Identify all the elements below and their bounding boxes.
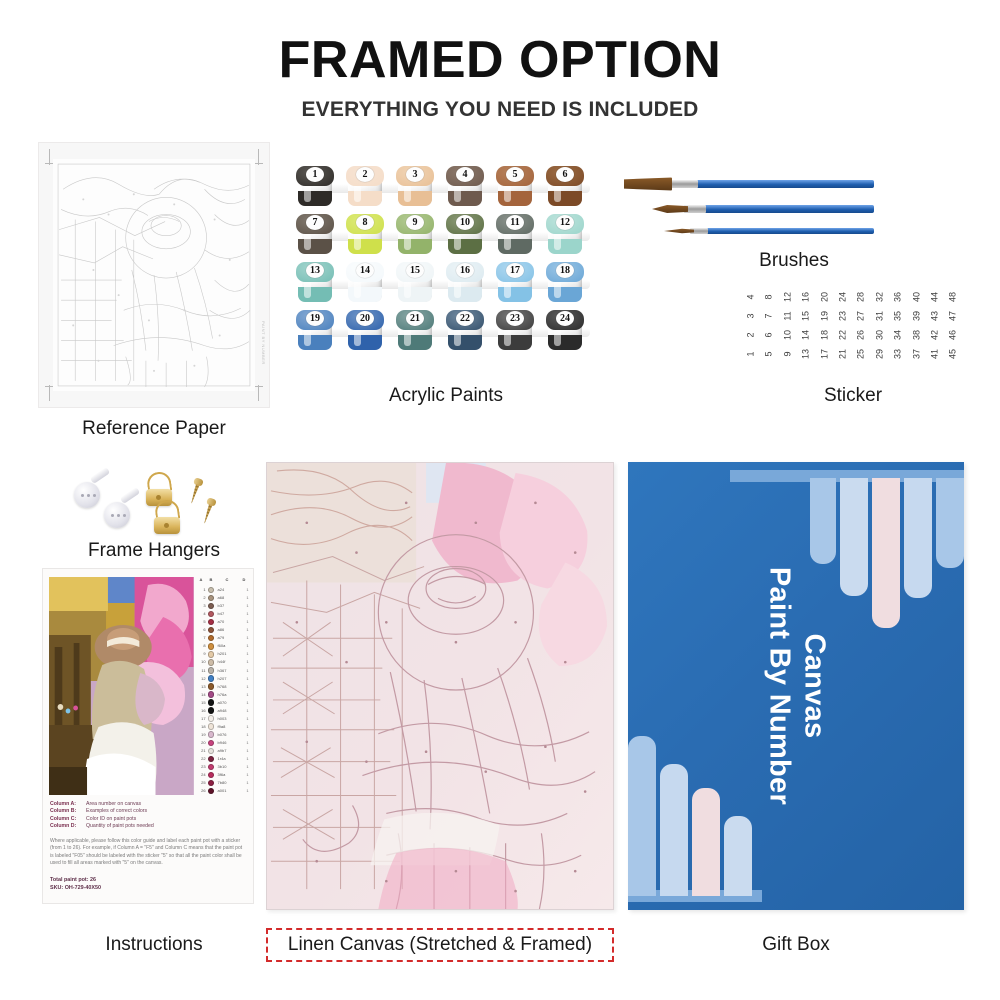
pot-highlight xyxy=(454,280,461,298)
sticker-number: 5 xyxy=(760,346,778,363)
sticker-number: 31 xyxy=(870,308,888,325)
legend-color-code: a001 xyxy=(218,788,227,793)
sticker-number: 39 xyxy=(907,308,925,325)
sticker-number: 36 xyxy=(889,289,907,306)
sticker-number: 3 xyxy=(742,308,760,325)
sticker-number: 6 xyxy=(760,327,778,344)
legend-color-code: a68 xyxy=(218,595,225,600)
legend-quantity: 1 xyxy=(246,700,248,705)
legend-area-number: 12 xyxy=(199,676,206,681)
pot-highlight xyxy=(504,184,511,202)
paint-pot-1: 1 xyxy=(296,166,334,208)
caption-linen-canvas: Linen Canvas (Stretched & Framed) xyxy=(266,928,614,962)
legend-quantity: 1 xyxy=(246,619,248,624)
pot-highlight xyxy=(454,184,461,202)
legend-color-code: b946 xyxy=(218,740,227,745)
paint-pot-number: 7 xyxy=(306,215,324,230)
legend-color-swatch xyxy=(208,691,215,698)
legend-color-swatch xyxy=(208,764,215,771)
legend-color-code: h44f xyxy=(218,659,226,664)
legend-area-number: 21 xyxy=(199,748,206,753)
sticker-number: 38 xyxy=(907,327,925,344)
paint-pot-11: 11 xyxy=(496,214,534,256)
sticker-number: 17 xyxy=(815,346,833,363)
legend-quantity: 1 xyxy=(246,643,248,648)
legend-color-swatch xyxy=(208,699,215,706)
legend-area-number: 2 xyxy=(199,595,206,600)
legend-row: 16a9481 xyxy=(198,707,250,715)
paint-pot-17: 17 xyxy=(496,262,534,304)
sticker-number: 29 xyxy=(870,346,888,363)
legend-color-code: h207 xyxy=(218,676,227,681)
sticker-column: 41424344 xyxy=(926,288,943,368)
sticker-number: 35 xyxy=(889,308,907,325)
paint-pot-number: 9 xyxy=(406,215,424,230)
legend-area-number: 15 xyxy=(199,700,206,705)
legend-row: 2a681 xyxy=(198,594,250,602)
paint-pot-number: 3 xyxy=(406,167,424,182)
instructions-preview-art xyxy=(49,577,194,795)
pot-highlight xyxy=(354,280,361,298)
legend-area-number: 16 xyxy=(199,708,206,713)
legend-area-number: 6 xyxy=(199,627,206,632)
sticker-number: 30 xyxy=(870,327,888,344)
legend-color-code: h768 xyxy=(218,684,227,689)
legend-row: 14h76a1 xyxy=(198,691,250,699)
caption-acrylic-paints: Acrylic Paints xyxy=(296,385,596,407)
paint-pot-number: 4 xyxy=(456,167,474,182)
legend-quantity: 1 xyxy=(246,684,248,689)
pot-highlight xyxy=(554,328,561,346)
sticker-column: 25262728 xyxy=(852,288,869,368)
pot-highlight xyxy=(354,232,361,250)
sticker-number: 32 xyxy=(870,289,888,306)
legend-header-b: B xyxy=(210,577,213,582)
sticker-number: 27 xyxy=(852,308,870,325)
sticker-column: 45464748 xyxy=(944,288,961,368)
legend-color-swatch xyxy=(208,788,215,795)
legend-row: 18f9a81 xyxy=(198,723,250,731)
pot-highlight xyxy=(354,184,361,202)
legend-color-code: 3f6a xyxy=(218,772,226,777)
sku-value: OH-729-40X50 xyxy=(65,885,101,891)
paint-pot-number: 21 xyxy=(406,311,424,326)
legend-area-number: 22 xyxy=(199,756,206,761)
legend-row: 5a701 xyxy=(198,618,250,626)
legend-color-swatch xyxy=(208,748,215,755)
d-ring-hanger-2 xyxy=(152,500,182,534)
legend-color-code: f60a xyxy=(218,643,226,648)
legend-color-code: a9b7 xyxy=(218,748,227,753)
legend-color-swatch xyxy=(208,587,215,594)
paint-pot-number: 19 xyxy=(306,311,324,326)
paint-pot-number: 6 xyxy=(556,167,574,182)
paint-pot-16: 16 xyxy=(446,262,484,304)
sticker-number: 15 xyxy=(797,308,815,325)
legend-quantity: 1 xyxy=(246,692,248,697)
sticker-number: 22 xyxy=(834,327,852,344)
pot-highlight xyxy=(354,328,361,346)
legend-area-number: 9 xyxy=(199,651,206,656)
legend-row: 26a0011 xyxy=(198,787,250,795)
pot-highlight xyxy=(304,232,311,250)
legend-quantity: 1 xyxy=(246,676,248,681)
legend-color-swatch xyxy=(208,627,215,634)
column-description: Examples of correct colors xyxy=(86,808,147,814)
legend-color-swatch xyxy=(208,635,215,642)
sticker-column: 1234 xyxy=(742,288,759,368)
reference-paper-sidenote: PAINT BY NUMBER xyxy=(261,321,266,365)
legend-color-code: h201 xyxy=(218,651,227,656)
legend-color-code: b076 xyxy=(218,732,227,737)
sticker-number: 4 xyxy=(742,289,760,306)
legend-quantity: 1 xyxy=(246,668,248,673)
legend-row: 243f6a1 xyxy=(198,771,250,779)
pot-highlight xyxy=(404,232,411,250)
paint-pot-8: 8 xyxy=(346,214,384,256)
legend-area-number: 13 xyxy=(199,684,206,689)
caption-gift-box: Gift Box xyxy=(628,934,964,956)
pot-highlight xyxy=(504,232,511,250)
column-definition: Column A:Area number on canvas xyxy=(50,801,246,808)
legend-row: 12h2071 xyxy=(198,675,250,683)
pot-highlight xyxy=(304,328,311,346)
instructions-sheet-image: A B C D 1a2412a6813b3714b4715a7016a8617a… xyxy=(42,568,254,904)
caption-sticker: Sticker xyxy=(742,385,964,407)
legend-color-code: h003 xyxy=(218,716,227,721)
paint-pot-10: 10 xyxy=(446,214,484,256)
brush-flat xyxy=(624,180,874,188)
reference-line-art xyxy=(53,159,255,391)
caption-instructions: Instructions xyxy=(38,934,270,956)
column-key: Column B: xyxy=(50,808,86,815)
pot-highlight xyxy=(304,280,311,298)
sticker-column: 5678 xyxy=(760,288,777,368)
legend-area-number: 24 xyxy=(199,772,206,777)
paint-pot-number: 8 xyxy=(356,215,374,230)
paint-pot-24: 24 xyxy=(546,310,584,352)
sticker-number: 18 xyxy=(815,327,833,344)
paint-pot-number: 23 xyxy=(506,311,524,326)
sticker-number: 10 xyxy=(778,327,796,344)
total-paint-pot-value: 26 xyxy=(90,877,96,883)
sticker-number: 7 xyxy=(760,308,778,325)
sticker-number: 48 xyxy=(944,289,962,306)
paint-pot-number: 1 xyxy=(306,167,324,182)
paint-pot-row: 789101112 xyxy=(296,214,596,258)
paint-pot-18: 18 xyxy=(546,262,584,304)
sticker-number: 44 xyxy=(926,289,944,306)
acrylic-paints-image: 123456789101112131415161718192021222324 xyxy=(296,166,596,358)
pot-highlight xyxy=(454,328,461,346)
pot-highlight xyxy=(554,184,561,202)
paint-pot-row: 192021222324 xyxy=(296,310,596,354)
legend-quantity: 1 xyxy=(246,627,248,632)
legend-quantity: 1 xyxy=(246,635,248,640)
paint-pot-5: 5 xyxy=(496,166,534,208)
legend-color-swatch xyxy=(208,675,215,682)
sticker-number: 8 xyxy=(760,289,778,306)
pot-highlight xyxy=(404,280,411,298)
column-description: Quantity of paint pots needed xyxy=(86,823,154,829)
sticker-column: 17181920 xyxy=(816,288,833,368)
legend-color-code: 1r4a xyxy=(218,756,226,761)
paint-pot-20: 20 xyxy=(346,310,384,352)
paint-pot-6: 6 xyxy=(546,166,584,208)
pot-highlight xyxy=(304,184,311,202)
paint-pot-row: 131415161718 xyxy=(296,262,596,306)
column-key: Column D: xyxy=(50,823,86,830)
legend-area-number: 14 xyxy=(199,692,206,697)
pot-highlight xyxy=(454,232,461,250)
page-subtitle: EVERYTHING YOU NEED IS INCLUDED xyxy=(0,98,1000,122)
column-description: Color ID on paint pots xyxy=(86,816,136,822)
legend-color-swatch xyxy=(208,619,215,626)
sticker-number: 11 xyxy=(778,308,796,325)
caption-frame-hangers: Frame Hangers xyxy=(38,540,270,562)
legend-quantity: 1 xyxy=(246,740,248,745)
legend-row: 3b371 xyxy=(198,602,250,610)
legend-color-swatch xyxy=(208,611,215,618)
sticker-number: 19 xyxy=(815,308,833,325)
paint-pot-number: 14 xyxy=(356,263,374,278)
screw-1 xyxy=(187,477,204,505)
legend-area-number: 19 xyxy=(199,732,206,737)
sticker-number: 40 xyxy=(907,289,925,306)
instructions-text-block: Column A:Area number on canvasColumn B:E… xyxy=(50,801,246,892)
legend-quantity: 1 xyxy=(246,732,248,737)
legend-color-swatch xyxy=(208,731,215,738)
paint-pot-7: 7 xyxy=(296,214,334,256)
instructions-note: Where applicable, please follow this col… xyxy=(50,838,246,868)
reference-paper-image: PAINT BY NUMBER xyxy=(38,142,270,408)
column-key: Column C: xyxy=(50,816,86,823)
product-infographic: FRAMED OPTION EVERYTHING YOU NEED IS INC… xyxy=(0,0,1000,1000)
sticker-number: 13 xyxy=(797,346,815,363)
column-definition: Column B:Examples of correct colors xyxy=(50,808,246,815)
legend-area-number: 23 xyxy=(199,764,206,769)
pot-highlight xyxy=(554,232,561,250)
paint-pot-19: 19 xyxy=(296,310,334,352)
paint-pot-number: 5 xyxy=(506,167,524,182)
legend-color-swatch xyxy=(208,651,215,658)
legend-color-code: a86 xyxy=(218,627,225,632)
paint-pot-22: 22 xyxy=(446,310,484,352)
paint-pot-4: 4 xyxy=(446,166,484,208)
paint-pot-15: 15 xyxy=(396,262,434,304)
legend-header-row: A B C D xyxy=(198,577,250,585)
legend-color-code: b37 xyxy=(218,603,225,608)
page-title: FRAMED OPTION xyxy=(0,30,1000,90)
legend-color-swatch xyxy=(208,643,215,650)
legend-area-number: 17 xyxy=(199,716,206,721)
paint-pot-number: 17 xyxy=(506,263,524,278)
legend-quantity: 1 xyxy=(246,708,248,713)
paint-pot-number: 18 xyxy=(556,263,574,278)
sticker-number: 21 xyxy=(834,346,852,363)
pot-highlight xyxy=(404,328,411,346)
column-definition: Column C:Color ID on paint pots xyxy=(50,816,246,823)
sku-label: SKU: xyxy=(50,885,63,891)
legend-color-swatch xyxy=(208,756,215,763)
column-key: Column A: xyxy=(50,801,86,808)
legend-color-swatch xyxy=(208,740,215,747)
legend-row: 6a861 xyxy=(198,626,250,634)
legend-row: 19b0761 xyxy=(198,731,250,739)
legend-color-swatch xyxy=(208,683,215,690)
color-legend-table: A B C D 1a2412a6813b3714b4715a7016a8617a… xyxy=(198,577,247,795)
legend-row: 17h0031 xyxy=(198,715,250,723)
sticker-number: 37 xyxy=(907,346,925,363)
legend-color-swatch xyxy=(208,772,215,779)
sticker-number: 42 xyxy=(926,327,944,344)
sticker-number: 34 xyxy=(889,327,907,344)
legend-color-swatch xyxy=(208,715,215,722)
legend-row: 8f60a1 xyxy=(198,642,250,650)
legend-color-code: 7b80 xyxy=(218,780,227,785)
legend-header-a: A xyxy=(200,577,203,582)
legend-color-code: 3b10 xyxy=(218,764,227,769)
legend-row: 13h7681 xyxy=(198,683,250,691)
sticker-number: 25 xyxy=(852,346,870,363)
legend-color-code: h367 xyxy=(218,668,227,673)
legend-area-number: 25 xyxy=(199,780,206,785)
legend-quantity: 1 xyxy=(246,611,248,616)
legend-area-number: 7 xyxy=(199,635,206,640)
paint-pot-23: 23 xyxy=(496,310,534,352)
legend-row: 15a0701 xyxy=(198,699,250,707)
legend-color-code: b47 xyxy=(218,611,225,616)
linen-canvas-image xyxy=(266,462,614,910)
paint-pot-number: 15 xyxy=(406,263,424,278)
paint-pot-9: 9 xyxy=(396,214,434,256)
legend-row: 7a791 xyxy=(198,634,250,642)
gift-box-label: Canvas Paint By Number xyxy=(761,567,832,805)
legend-color-code: a948 xyxy=(218,708,227,713)
legend-quantity: 1 xyxy=(246,748,248,753)
paint-pot-21: 21 xyxy=(396,310,434,352)
legend-quantity: 1 xyxy=(246,756,248,761)
sticker-column: 29303132 xyxy=(871,288,888,368)
legend-color-code: h76a xyxy=(218,692,227,697)
legend-row: 20b9461 xyxy=(198,739,250,747)
legend-row: 4b471 xyxy=(198,610,250,618)
column-description: Area number on canvas xyxy=(86,801,141,807)
sticker-number: 46 xyxy=(944,327,962,344)
gift-box-line-1: Canvas xyxy=(796,567,831,805)
legend-row: 11h3671 xyxy=(198,667,250,675)
legend-quantity: 1 xyxy=(246,587,248,592)
sticker-sheet-image: 1234567891011121314151617181920212223242… xyxy=(742,288,964,368)
legend-area-number: 4 xyxy=(199,611,206,616)
legend-color-swatch xyxy=(208,723,215,730)
legend-area-number: 3 xyxy=(199,603,206,608)
legend-color-code: a70 xyxy=(218,619,225,624)
gift-box-image: Canvas Paint By Number xyxy=(628,462,964,910)
paint-pot-number: 20 xyxy=(356,311,374,326)
sticker-column: 21222324 xyxy=(834,288,851,368)
legend-quantity: 1 xyxy=(246,659,248,664)
legend-color-swatch xyxy=(208,603,215,610)
legend-quantity: 1 xyxy=(246,772,248,777)
legend-quantity: 1 xyxy=(246,595,248,600)
legend-area-number: 10 xyxy=(199,659,206,664)
sticker-number: 16 xyxy=(797,289,815,306)
sticker-number: 45 xyxy=(944,346,962,363)
brushes-image xyxy=(624,172,874,262)
sticker-column: 33343536 xyxy=(889,288,906,368)
screw-2 xyxy=(200,497,217,525)
paint-pot-14: 14 xyxy=(346,262,384,304)
column-definition: Column D:Quantity of paint pots needed xyxy=(50,823,246,830)
sticker-number: 23 xyxy=(834,308,852,325)
legend-row: 9h2011 xyxy=(198,650,250,658)
column-definitions: Column A:Area number on canvasColumn B:E… xyxy=(50,801,246,831)
sticker-number: 20 xyxy=(815,289,833,306)
paint-pot-number: 16 xyxy=(456,263,474,278)
sticker-number: 33 xyxy=(889,346,907,363)
sticker-column: 13141516 xyxy=(797,288,814,368)
legend-area-number: 26 xyxy=(199,788,206,793)
legend-area-number: 11 xyxy=(199,668,206,673)
legend-row: 221r4a1 xyxy=(198,755,250,763)
legend-color-swatch xyxy=(208,667,215,674)
sticker-number: 12 xyxy=(778,289,796,306)
sticker-number: 26 xyxy=(852,327,870,344)
instructions-totals: Total paint pot: 26 SKU: OH-729-40X50 xyxy=(50,876,246,892)
legend-header-c: C xyxy=(226,577,229,582)
paint-pot-number: 13 xyxy=(306,263,324,278)
legend-color-swatch xyxy=(208,659,215,666)
legend-row: 21a9b71 xyxy=(198,747,250,755)
legend-quantity: 1 xyxy=(246,780,248,785)
legend-area-number: 1 xyxy=(199,587,206,592)
sticker-number: 47 xyxy=(944,308,962,325)
paint-pot-number: 10 xyxy=(456,215,474,230)
pot-highlight xyxy=(404,184,411,202)
frame-hangers-image xyxy=(56,468,236,540)
paint-pot-2: 2 xyxy=(346,166,384,208)
sticker-column: 9101112 xyxy=(779,288,796,368)
legend-header-d: D xyxy=(243,577,246,582)
legend-color-swatch xyxy=(208,595,215,602)
legend-area-number: 18 xyxy=(199,724,206,729)
legend-area-number: 5 xyxy=(199,619,206,624)
legend-row: 10h44f1 xyxy=(198,658,250,666)
legend-quantity: 1 xyxy=(246,603,248,608)
legend-color-code: a79 xyxy=(218,635,225,640)
legend-color-swatch xyxy=(208,780,215,787)
caption-reference-paper: Reference Paper xyxy=(38,418,270,440)
paint-pot-number: 12 xyxy=(556,215,574,230)
paint-pot-number: 11 xyxy=(506,215,524,230)
gift-box-line-2: Paint By Number xyxy=(761,567,796,805)
pot-highlight xyxy=(504,328,511,346)
legend-quantity: 1 xyxy=(246,788,248,793)
legend-row: 1a241 xyxy=(198,586,250,594)
legend-row: 257b801 xyxy=(198,779,250,787)
pot-highlight xyxy=(504,280,511,298)
paint-pot-row: 123456 xyxy=(296,166,596,210)
paint-pot-number: 22 xyxy=(456,311,474,326)
total-paint-pot-label: Total paint pot: xyxy=(50,877,89,883)
legend-color-code: a070 xyxy=(218,700,227,705)
legend-quantity: 1 xyxy=(246,716,248,721)
sticker-number: 43 xyxy=(926,308,944,325)
sticker-number: 24 xyxy=(834,289,852,306)
sticker-number: 2 xyxy=(742,327,760,344)
legend-area-number: 8 xyxy=(199,643,206,648)
